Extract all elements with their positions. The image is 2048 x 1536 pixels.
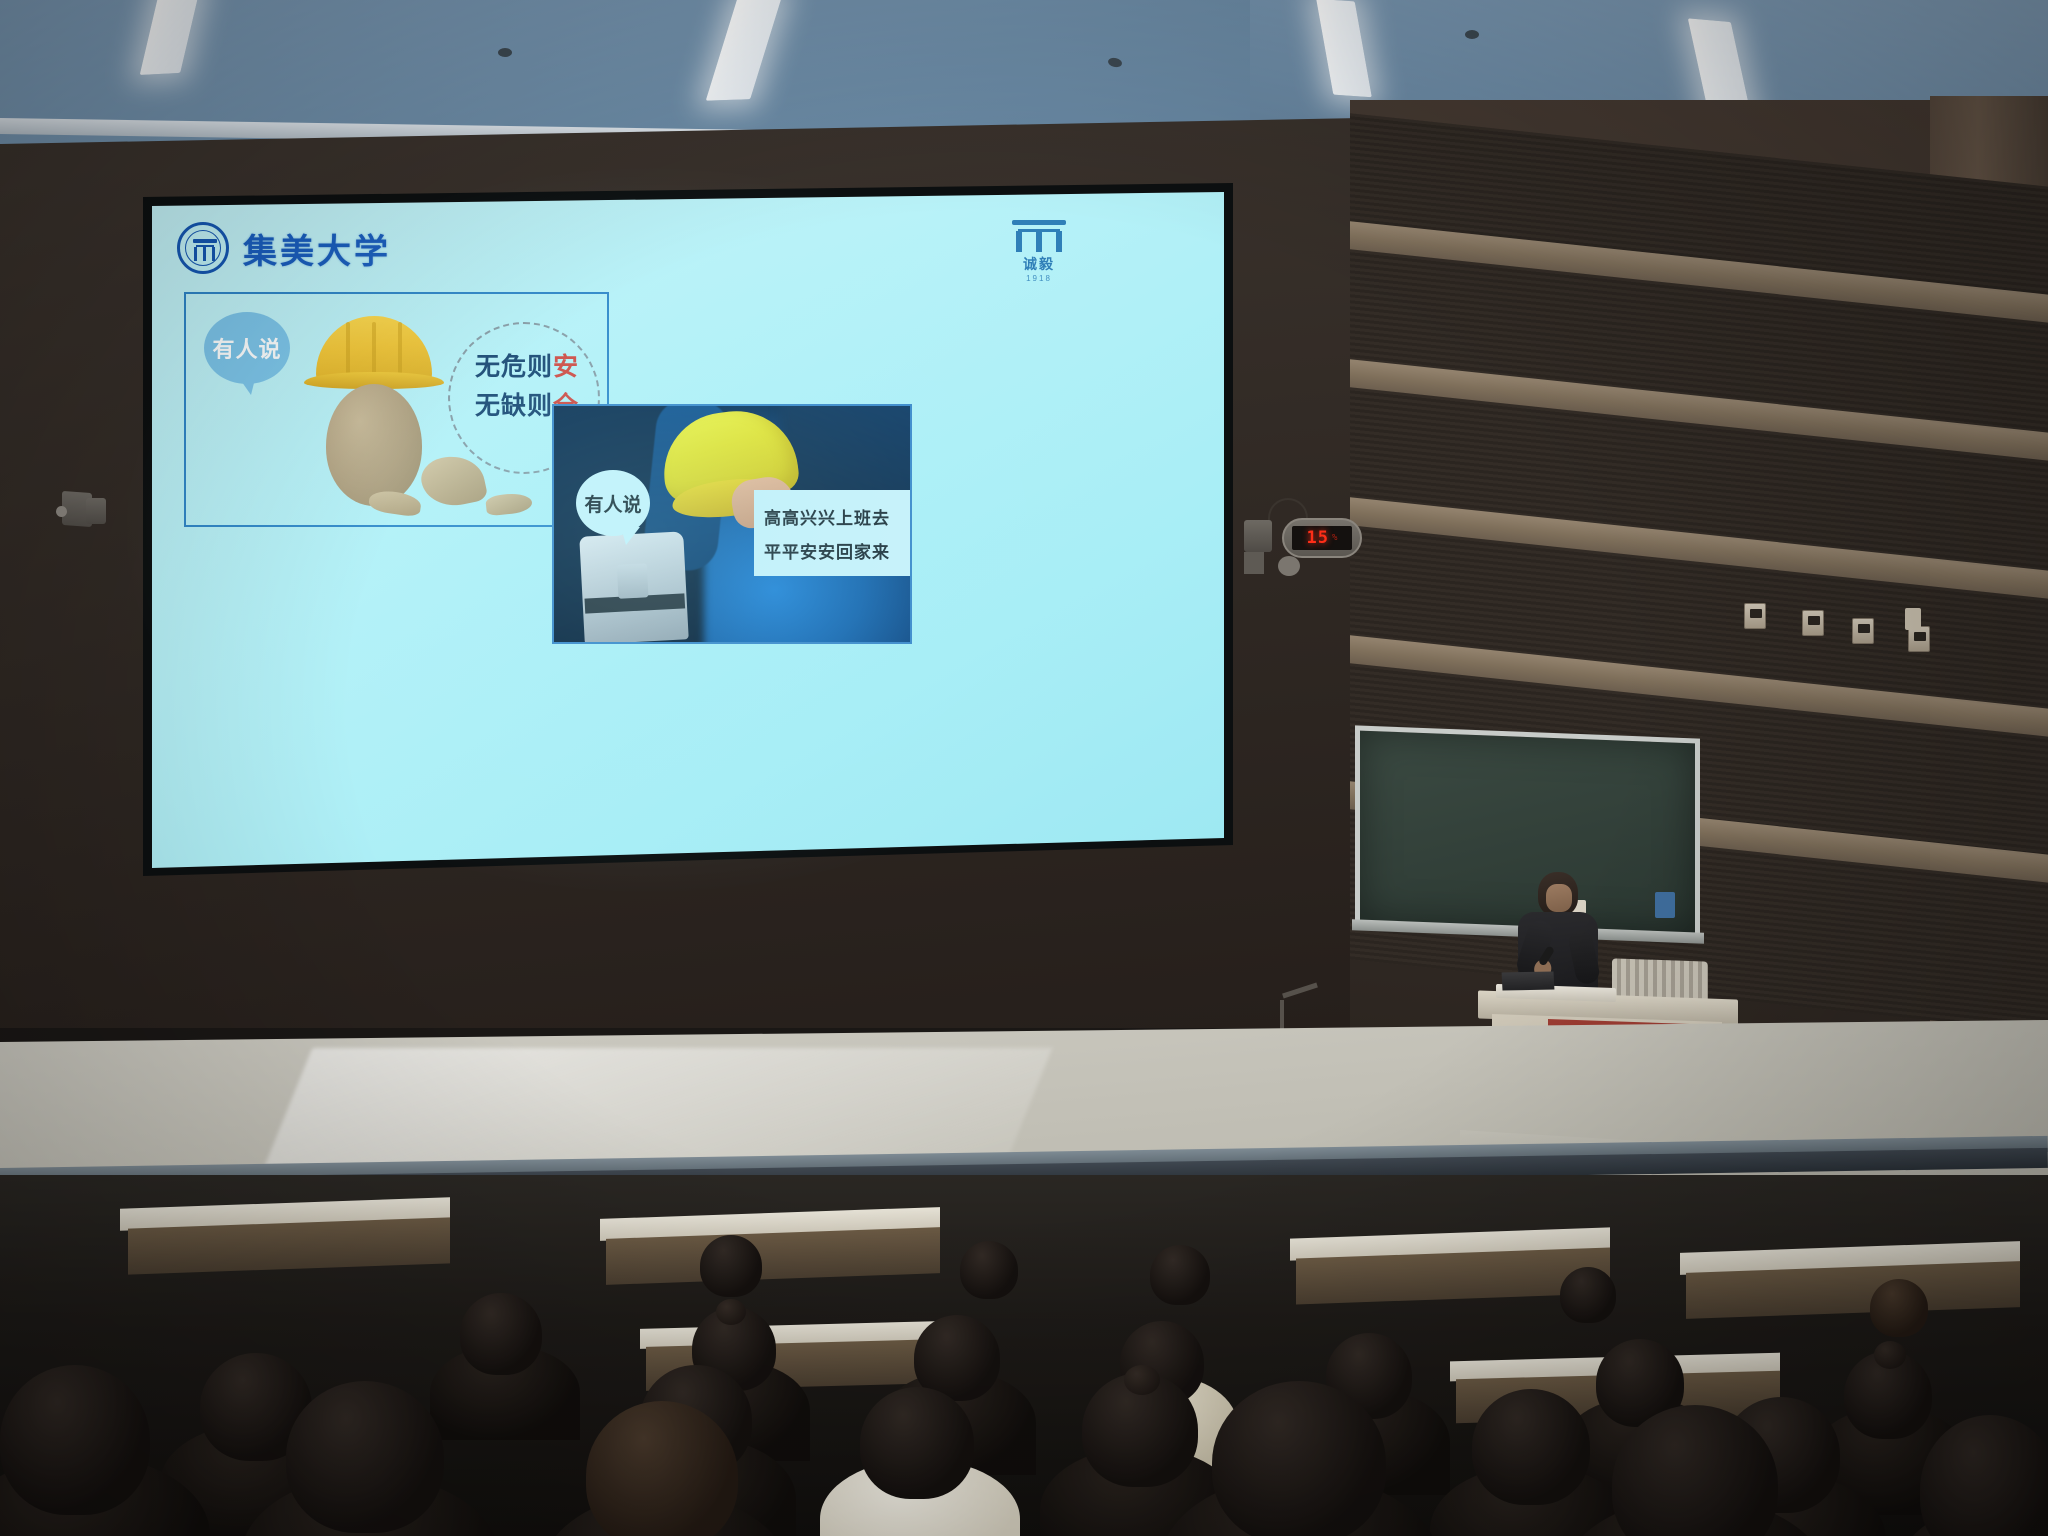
podium-laptop[interactable]	[1502, 972, 1555, 991]
campus-motto: 诚毅	[1004, 254, 1074, 274]
caption-line-1: 高高兴兴上班去	[764, 504, 912, 529]
slogan-line1-accent: 安	[553, 352, 579, 381]
speech-bubble-one: 有人说	[204, 312, 290, 384]
lecture-hall-photo: 集美大学 诚毅 1918 有人说	[0, 0, 2048, 1536]
slogan-line1-text: 无危则	[475, 352, 553, 381]
wall-digital-display[interactable]: 15 %	[1282, 518, 1362, 558]
slide-panel-one: 有人说 无危则安 无缺则全	[184, 292, 609, 527]
wall-outlet[interactable]	[1744, 603, 1766, 629]
blue-cup[interactable]	[1655, 892, 1675, 918]
audience-head	[860, 1387, 974, 1499]
audience-head	[1870, 1279, 1928, 1337]
audience-head	[286, 1381, 444, 1533]
audience-hair-bun	[716, 1299, 746, 1325]
audience-head	[1212, 1381, 1386, 1536]
presenter-face	[1546, 884, 1572, 912]
display-unit-label: %	[1332, 533, 1337, 543]
wall-switch-plate[interactable]	[1905, 608, 1921, 630]
wall-outlet[interactable]	[1852, 618, 1874, 644]
ceiling-sensor-icon	[498, 48, 512, 57]
audience-head	[1472, 1389, 1590, 1505]
founding-year: 1918	[1004, 274, 1074, 283]
audience-head	[960, 1241, 1018, 1299]
wall-outlet[interactable]	[1802, 610, 1824, 636]
slide-panel-two: 有人说 高高兴兴上班去 平平安安回家来	[552, 404, 912, 644]
wall-speaker-right-bracket	[1244, 552, 1264, 574]
projection-screen: 集美大学 诚毅 1918 有人说	[152, 192, 1224, 868]
ceiling-sensor-icon	[1465, 30, 1479, 39]
gate-icon	[1012, 220, 1066, 252]
speech-bubble-two: 有人说	[576, 470, 650, 536]
audience-hair-bun	[1874, 1341, 1906, 1369]
wall-speaker-left-bracket	[86, 498, 106, 524]
caption-box: 高高兴兴上班去 平平安安回家来	[754, 490, 912, 576]
eggshell-fragment	[485, 492, 533, 517]
slogan-line2-text: 无缺则	[475, 391, 553, 420]
wall-sensor-left	[56, 506, 67, 517]
campus-gate-logo: 诚毅 1918	[1004, 220, 1074, 283]
audience-head	[460, 1293, 542, 1375]
caption-line-2: 平平安安回家来	[764, 538, 912, 563]
audience-seating-area	[0, 1175, 2048, 1536]
audience-hair-bun	[1124, 1365, 1160, 1395]
wall-speaker-right	[1244, 520, 1272, 552]
display-screen: 15 %	[1292, 526, 1352, 550]
lecture-desk-front	[128, 1217, 450, 1274]
audience-head	[0, 1365, 150, 1515]
university-seal-icon	[177, 222, 229, 274]
audience-head	[1560, 1267, 1616, 1323]
audience-head	[700, 1235, 762, 1297]
audience-head	[1150, 1245, 1210, 1305]
university-name: 集美大学	[243, 224, 391, 273]
egg-shape	[326, 384, 422, 506]
slide-university-branding: 集美大学	[177, 222, 391, 274]
tool-belt	[579, 531, 689, 644]
display-reading: 15	[1307, 528, 1329, 548]
wall-sensor-right	[1278, 556, 1300, 576]
